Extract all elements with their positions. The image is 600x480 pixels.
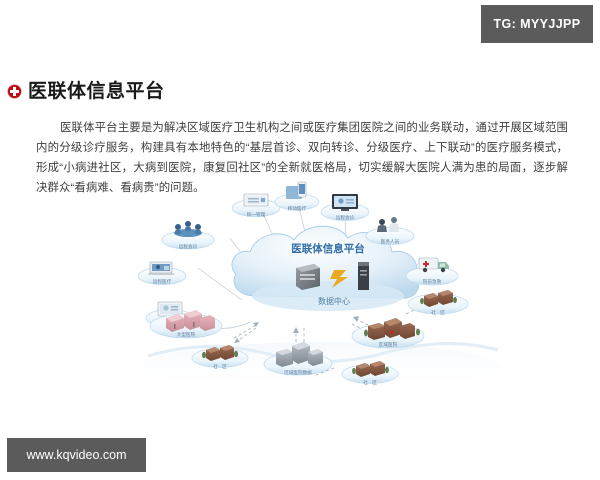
node-unified-management: 统一管理 <box>232 194 280 218</box>
server-tower-icon <box>358 262 369 290</box>
node-label: 社 区 <box>363 379 377 386</box>
tv-screen-icon <box>332 194 358 211</box>
site-watermark-label: www.kqvideo.com <box>26 448 126 462</box>
node-label: 院前急救 <box>423 278 442 285</box>
node-label: 社 区 <box>431 309 445 316</box>
node-label: 远程会诊 <box>336 214 355 221</box>
page-title: 医联体信息平台 <box>8 82 165 101</box>
node-community-right-top: 社 区 <box>408 290 468 316</box>
node-label: 移动医疗 <box>288 205 307 212</box>
site-watermark-badge: www.kqvideo.com <box>7 438 146 472</box>
topology-canvas: 医联体信息平台 数据中心 <box>138 178 504 390</box>
node-remote-consult: 远程会诊 <box>321 194 369 221</box>
node-label: 医务人员 <box>381 238 400 245</box>
medical-cross-icon <box>8 85 21 98</box>
node-label: 远程会诊 <box>179 243 198 250</box>
telegram-watermark-badge: TG: MYYJJPP <box>481 5 593 43</box>
node-medical-staff: 医务人员 <box>366 217 414 245</box>
slide-page: TG: MYYJJPP 医联体信息平台 医联体平台主要是为解决区域医疗卫生机构之… <box>0 0 600 480</box>
server-rack-icon <box>296 264 320 290</box>
conference-people-icon <box>174 221 202 237</box>
node-label: 统一管理 <box>247 211 266 218</box>
node-label: 社 区 <box>213 363 227 370</box>
page-title-label: 医联体信息平台 <box>28 82 165 101</box>
center-cloud-title: 医联体信息平台 <box>291 242 365 255</box>
node-label: 大型医院 <box>177 331 196 338</box>
node-label: 远程医疗 <box>153 278 172 285</box>
center-cloud-base <box>252 281 404 311</box>
telegram-watermark-label: TG: MYYJJPP <box>493 17 580 31</box>
printer-scanner-icon <box>244 194 268 206</box>
node-conference: 远程会诊 <box>162 221 214 250</box>
node-label: 区域医院 <box>379 341 398 348</box>
smartphone-icon <box>286 182 306 199</box>
center-cloud-sublabel: 数据中心 <box>318 296 350 306</box>
node-mobile-health: 移动医疗 <box>275 182 319 212</box>
medical-alliance-topology-diagram: 医联体信息平台 数据中心 <box>138 178 504 390</box>
node-telemedicine: 远程医疗 <box>138 262 186 285</box>
regional-hospital-icon <box>364 318 420 340</box>
video-consult-icon <box>148 262 174 275</box>
node-label: 区域医院数据 <box>284 369 312 376</box>
